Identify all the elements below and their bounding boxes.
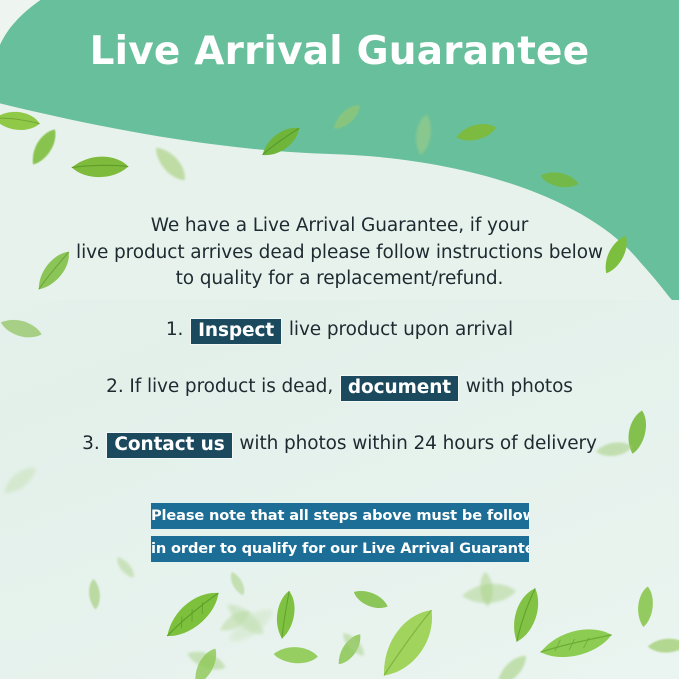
intro-paragraph: We have a Live Arrival Guarantee, if you… — [50, 213, 629, 293]
intro-line-2: live product arrives dead please follow … — [50, 240, 629, 267]
step-highlight-inspect: Inspect — [191, 319, 281, 344]
live-arrival-guarantee-graphic: Live Arrival Guarantee We have a Live Ar… — [0, 0, 679, 679]
intro-line-3: to quality for a replacement/refund. — [50, 266, 629, 293]
note-banners: Please note that all steps above must be… — [151, 503, 529, 562]
step-text-before: If live product is dead, — [124, 376, 339, 397]
step-item-1: 1. Inspect live product upon arrival — [0, 318, 679, 343]
note-banner-line-2: in order to qualify for our Live Arrival… — [151, 536, 529, 562]
step-text-after: with photos within 24 hours of delivery — [234, 433, 597, 454]
step-text-after: with photos — [460, 376, 573, 397]
step-item-2: 2. If live product is dead, document wit… — [0, 375, 679, 400]
step-item-3: 3. Contact us with photos within 24 hour… — [0, 432, 679, 457]
note-banner-line-1: Please note that all steps above must be… — [151, 503, 529, 529]
step-number: 2. — [106, 376, 123, 397]
step-highlight-contact-us[interactable]: Contact us — [107, 433, 231, 458]
intro-line-1: We have a Live Arrival Guarantee, if you… — [50, 213, 629, 240]
step-highlight-document: document — [341, 376, 458, 401]
steps-list: 1. Inspect live product upon arrival 2. … — [0, 318, 679, 489]
step-number: 3. — [82, 433, 99, 454]
step-text-after: live product upon arrival — [283, 319, 513, 340]
page-title: Live Arrival Guarantee — [0, 29, 679, 74]
step-number: 1. — [166, 319, 183, 340]
